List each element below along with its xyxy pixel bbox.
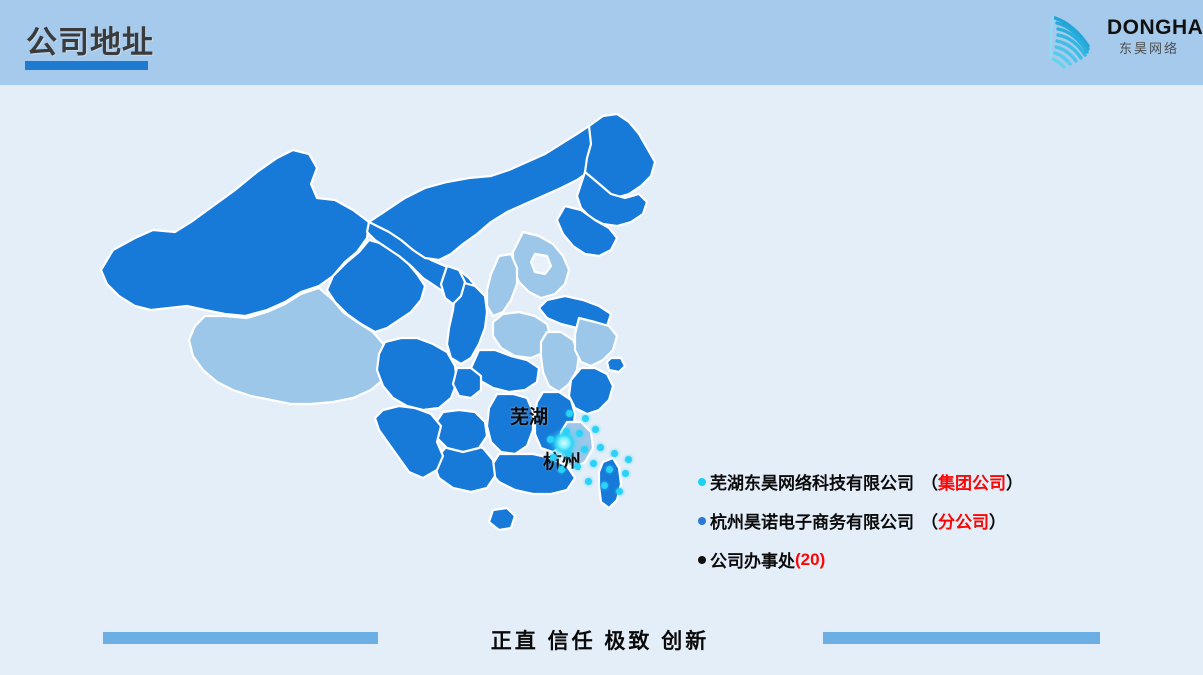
legend-item-group-company: 芜湖东昊网络科技有限公司 （集团公司）	[698, 462, 1118, 501]
office-dot[interactable]	[592, 426, 599, 433]
title-underline	[25, 61, 148, 70]
footer-bar-right	[823, 632, 1100, 644]
office-dot[interactable]	[576, 430, 583, 437]
office-dot[interactable]	[547, 436, 554, 443]
city-label-wuhu: 芜湖	[510, 402, 548, 429]
office-dot[interactable]	[590, 460, 597, 467]
province-zhejiang	[569, 368, 613, 414]
province-guizhou	[435, 410, 487, 452]
office-dot[interactable]	[601, 482, 608, 489]
office-dot[interactable]	[625, 456, 632, 463]
legend-office-count: (20)	[795, 550, 825, 570]
legend-accent: 分公司	[938, 513, 989, 532]
office-dot[interactable]	[558, 466, 565, 473]
legend-accent: 集团公司	[938, 474, 1006, 493]
province-sichuan	[377, 338, 457, 410]
office-dot[interactable]	[550, 454, 557, 461]
office-dot[interactable]	[585, 478, 592, 485]
page-header: 公司地址 DONGHAO 东昊网络	[0, 0, 1203, 85]
office-dot[interactable]	[582, 415, 589, 422]
municipality-chongqing	[453, 368, 481, 398]
office-dot[interactable]	[565, 450, 572, 457]
legend-bullet-cyan-icon	[698, 478, 706, 486]
legend-label: 公司办事处	[710, 547, 795, 572]
logo-subtitle: 东昊网络	[1107, 42, 1191, 55]
province-yunnan	[375, 406, 443, 478]
municipality-beijing	[531, 254, 551, 274]
footer-bar-left	[103, 632, 378, 644]
legend-item-offices: 公司办事处(20)	[698, 540, 1118, 579]
headquarters-marker-wuhu[interactable]	[553, 432, 575, 454]
legend-item-branch-company: 杭州昊诺电子商务有限公司 （分公司）	[698, 501, 1118, 540]
office-dot[interactable]	[566, 410, 573, 417]
company-logo: DONGHAO 东昊网络	[1009, 6, 1189, 76]
legend-label: 杭州昊诺电子商务有限公司	[710, 508, 914, 533]
legend-label: 芜湖东昊网络科技有限公司	[710, 469, 914, 494]
legend-paren-close: ）	[1006, 474, 1023, 493]
feather-wing-icon	[1041, 10, 1103, 72]
municipality-shanghai	[607, 358, 625, 372]
office-dot[interactable]	[563, 428, 570, 435]
office-dot[interactable]	[622, 470, 629, 477]
legend-paren-open: （	[921, 513, 938, 532]
province-hainan	[489, 508, 515, 530]
logo-name: DONGHAO	[1107, 17, 1191, 38]
office-dot[interactable]	[597, 444, 604, 451]
office-dot[interactable]	[616, 488, 623, 495]
office-dot[interactable]	[606, 466, 613, 473]
legend: 芜湖东昊网络科技有限公司 （集团公司） 杭州昊诺电子商务有限公司 （分公司） 公…	[698, 462, 1118, 579]
china-map-svg	[95, 110, 685, 610]
china-map-container: 芜湖 杭州	[95, 110, 685, 610]
page-title: 公司地址	[26, 17, 154, 62]
province-shanxi	[487, 254, 517, 316]
legend-bullet-blue-icon	[698, 517, 706, 525]
footer-slogan: 正直 信任 极致 创新	[455, 625, 745, 655]
legend-paren-close: ）	[989, 513, 1006, 532]
office-dot[interactable]	[611, 450, 618, 457]
office-dot[interactable]	[581, 446, 588, 453]
legend-paren-open: （	[921, 474, 938, 493]
office-dot[interactable]	[574, 463, 581, 470]
legend-bullet-black-icon	[698, 556, 706, 564]
